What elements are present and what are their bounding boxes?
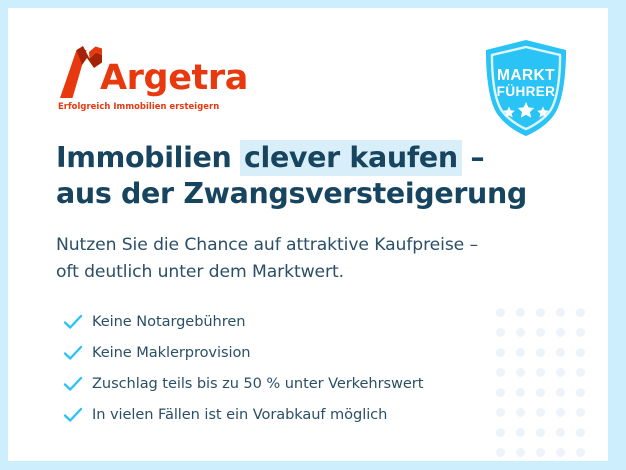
logo-wordmark: Argetra (100, 60, 248, 98)
dot (550, 342, 570, 362)
dot (490, 402, 510, 422)
dot (570, 362, 590, 382)
dot (530, 422, 550, 442)
list-item: Keine Notargebühren (63, 306, 423, 337)
dot (510, 322, 530, 342)
headline-suffix: – (461, 141, 484, 174)
banner-card: Argetra Erfolgreich Immobilien ersteiger… (8, 8, 608, 461)
subheadline-line-1: Nutzen Sie die Chance auf attraktive Kau… (56, 235, 478, 255)
dot-grid-decoration (490, 302, 608, 461)
svg-text:FÜHRER: FÜHRER (497, 84, 556, 99)
check-icon (63, 312, 92, 332)
check-icon (63, 405, 92, 425)
dot (570, 402, 590, 422)
dot (550, 422, 570, 442)
subheadline-line-2: oft deutlich unter dem Marktwert. (56, 262, 344, 282)
dot (570, 442, 590, 461)
dot (550, 442, 570, 461)
dot (530, 342, 550, 362)
dot (530, 402, 550, 422)
page-title: Immobilien clever kaufen – aus der Zwang… (56, 140, 527, 212)
headline-line-2: aus der Zwangsversteigerung (56, 177, 527, 210)
dot (490, 362, 510, 382)
logo-tagline: Erfolgreich Immobilien ersteigern (58, 101, 248, 112)
dot (530, 362, 550, 382)
dot (570, 382, 590, 402)
dot (490, 382, 510, 402)
svg-text:MARKT: MARKT (497, 67, 555, 84)
dot (510, 382, 530, 402)
dot (510, 442, 530, 461)
dot (530, 382, 550, 402)
list-item: Keine Maklerprovision (63, 337, 423, 368)
dot (510, 302, 530, 322)
dot (550, 362, 570, 382)
dot (550, 322, 570, 342)
market-leader-badge: MARKT FÜHRER (482, 39, 570, 137)
dot (510, 362, 530, 382)
dot (510, 342, 530, 362)
dot (510, 422, 530, 442)
argetra-logo: Argetra Erfolgreich Immobilien ersteiger… (56, 46, 248, 112)
headline-highlight: clever kaufen (240, 140, 462, 176)
subheadline: Nutzen Sie die Chance auf attraktive Kau… (56, 232, 478, 286)
dot (490, 322, 510, 342)
headline-line-1: Immobilien clever kaufen – (56, 141, 484, 174)
dot (530, 322, 550, 342)
argetra-roof-mark-icon (56, 46, 102, 98)
list-item: Zuschlag teils bis zu 50 % unter Verkehr… (63, 368, 423, 399)
dot (550, 382, 570, 402)
headline-prefix: Immobilien (56, 141, 241, 174)
dot (490, 442, 510, 461)
list-item: In vielen Fällen ist ein Vorabkauf mögli… (63, 399, 423, 430)
dot (570, 342, 590, 362)
benefits-list: Keine Notargebühren Keine Maklerprovisio… (63, 306, 423, 430)
promo-banner: Argetra Erfolgreich Immobilien ersteiger… (0, 0, 626, 470)
dot (490, 422, 510, 442)
check-icon (63, 374, 92, 394)
dot (530, 442, 550, 461)
dot (530, 302, 550, 322)
benefit-label: In vielen Fällen ist ein Vorabkauf mögli… (92, 405, 387, 425)
benefit-label: Keine Notargebühren (92, 312, 245, 332)
benefit-label: Zuschlag teils bis zu 50 % unter Verkehr… (92, 374, 423, 394)
check-icon (63, 343, 92, 363)
dot (570, 422, 590, 442)
logo-row: Argetra (56, 46, 248, 98)
dot (550, 302, 570, 322)
benefit-label: Keine Maklerprovision (92, 343, 250, 363)
dot (550, 402, 570, 422)
dot (570, 302, 590, 322)
dot (570, 322, 590, 342)
dot (490, 302, 510, 322)
dot (490, 342, 510, 362)
dot (510, 402, 530, 422)
